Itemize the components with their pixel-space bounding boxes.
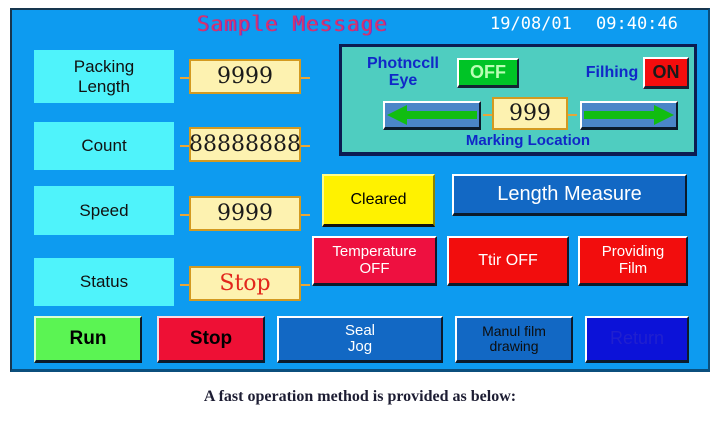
time-display: 09:40:46 (596, 14, 678, 34)
hmi-screen-panel: Sample Message 19/08/01 09:40:46 Packing… (10, 8, 710, 372)
seal-jog-button[interactable]: Seal Jog (277, 316, 443, 363)
marking-location-increment-button[interactable] (580, 101, 678, 130)
label-speed: Speed (34, 186, 174, 235)
marking-location-decrement-button[interactable] (383, 101, 481, 130)
photocell-panel: Photnccll Eye OFF Filhing ON 999 Marking… (339, 44, 697, 156)
arrow-right-icon (582, 103, 676, 127)
length-measure-button[interactable]: Length Measure (452, 174, 687, 216)
label-status: Status (34, 258, 174, 306)
figure-caption: A fast operation method is provided as b… (0, 388, 720, 406)
title-bar: Sample Message 19/08/01 09:40:46 (12, 10, 708, 40)
providing-film-button[interactable]: Providing Film (578, 236, 688, 286)
cleared-button[interactable]: Cleared (322, 174, 435, 227)
value-packing-length[interactable]: 9999 (189, 59, 301, 94)
arrow-left-icon (385, 103, 479, 127)
date-display: 19/08/01 (490, 14, 572, 34)
manual-film-drawing-button[interactable]: Manul film drawing (455, 316, 573, 363)
caption-marking-location: Marking Location (438, 133, 618, 149)
filling-state-button[interactable]: ON (643, 57, 689, 89)
page-title: Sample Message (162, 12, 422, 36)
run-button[interactable]: Run (34, 316, 142, 363)
ttir-button[interactable]: Ttir OFF (447, 236, 569, 286)
label-count: Count (34, 122, 174, 170)
photocell-eye-state-button[interactable]: OFF (457, 58, 519, 88)
label-packing-length: Packing Length (34, 50, 174, 103)
label-filling: Filhing (577, 65, 647, 82)
value-status: Stop (189, 266, 301, 301)
return-button[interactable]: Return (585, 316, 689, 363)
label-photocell-eye: Photnccll Eye (354, 56, 452, 90)
value-speed[interactable]: 9999 (189, 196, 301, 231)
value-count[interactable]: 88888888 (189, 127, 301, 162)
stop-button[interactable]: Stop (157, 316, 265, 363)
temperature-button[interactable]: Temperature OFF (312, 236, 437, 286)
value-marking-location[interactable]: 999 (492, 97, 568, 130)
